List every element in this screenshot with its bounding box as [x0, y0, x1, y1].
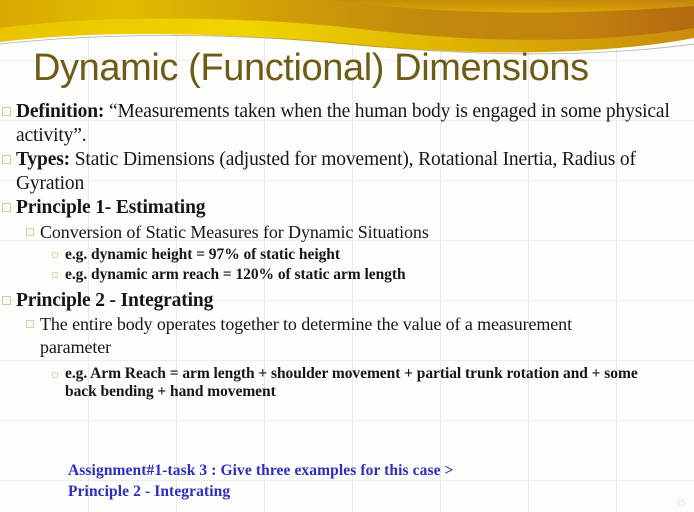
bullet-text: e.g. dynamic arm reach = 120% of static …	[65, 265, 406, 285]
bullet-lead: Principle 2 - Integrating	[16, 290, 213, 311]
bullet-eg-arm-reach: e.g. Arm Reach = arm length + shoulder m…	[0, 365, 694, 401]
assignment-line-2: Principle 2 - Integrating	[68, 481, 454, 502]
bullet-text: Principle 2 - Integrating	[16, 289, 213, 313]
square-bullet-icon	[2, 155, 11, 164]
bullet-lead: Definition:	[16, 101, 104, 122]
square-bullet-icon	[26, 228, 34, 236]
bullet-text: Definition: “Measurements taken when the…	[16, 100, 694, 147]
page-number: 15	[676, 498, 686, 508]
bullet-principle-2: Principle 2 - Integrating	[0, 289, 694, 313]
bullet-body: Static Dimensions (adjusted for movement…	[16, 149, 636, 194]
bullet-text: Conversion of Static Measures for Dynami…	[40, 221, 429, 244]
bullet-body: “Measurements taken when the human body …	[16, 101, 670, 146]
square-bullet-icon	[26, 320, 34, 328]
bullet-lead: Principle 1- Estimating	[16, 197, 205, 218]
bullet-eg-dynamic-arm-reach: e.g. dynamic arm reach = 120% of static …	[0, 265, 694, 285]
slide: Dynamic (Functional) Dimensions Definiti…	[0, 0, 694, 512]
bullet-definition: Definition: “Measurements taken when the…	[0, 100, 694, 147]
bullet-conversion-static-measures: Conversion of Static Measures for Dynami…	[0, 221, 694, 244]
square-bullet-icon	[2, 107, 11, 116]
square-bullet-icon	[2, 296, 11, 305]
bullet-text: Principle 1- Estimating	[16, 196, 205, 220]
bullet-principle-1: Principle 1- Estimating	[0, 196, 694, 220]
bullet-text: e.g. Arm Reach = arm length + shoulder m…	[65, 365, 673, 401]
page-title: Dynamic (Functional) Dimensions	[33, 46, 589, 90]
bullet-lead: Types:	[16, 149, 70, 170]
bullet-text: Types: Static Dimensions (adjusted for m…	[16, 148, 694, 195]
assignment-note: Assignment#1-task 3 : Give three example…	[68, 460, 454, 502]
bullet-types: Types: Static Dimensions (adjusted for m…	[0, 148, 694, 195]
square-bullet-icon	[2, 203, 11, 212]
square-bullet-icon	[52, 252, 58, 258]
bullet-text: The entire body operates together to det…	[40, 313, 640, 359]
bullet-entire-body-operates: The entire body operates together to det…	[0, 313, 694, 359]
bullet-text: e.g. dynamic height = 97% of static heig…	[65, 245, 340, 265]
bullet-eg-dynamic-height: e.g. dynamic height = 97% of static heig…	[0, 245, 694, 265]
assignment-line-1: Assignment#1-task 3 : Give three example…	[68, 460, 454, 481]
slide-content: Definition: “Measurements taken when the…	[0, 100, 694, 401]
square-bullet-icon	[52, 272, 58, 278]
square-bullet-icon	[52, 372, 58, 378]
